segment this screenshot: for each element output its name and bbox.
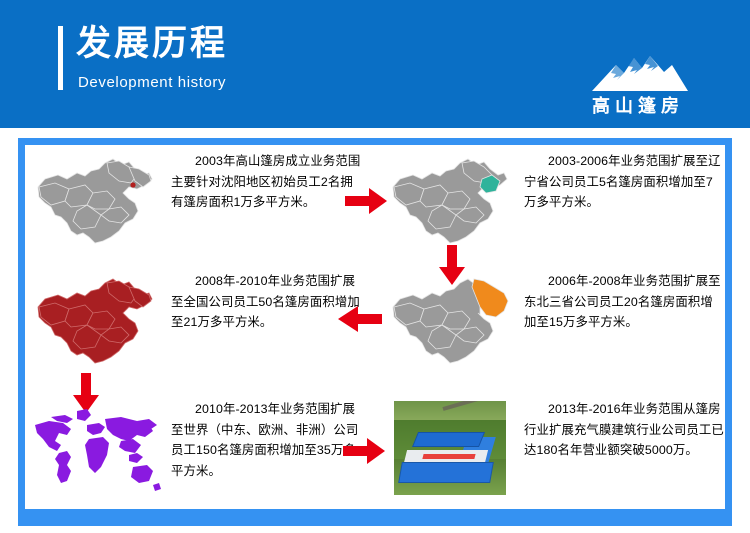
- company-logo: 高山篷房: [574, 52, 702, 118]
- page-subtitle: Development history: [78, 74, 226, 91]
- page-root: 发展历程 Development history 高山篷房: [0, 0, 750, 533]
- content-frame: 2003年高山篷房成立业务范围主要针对沈阳地区初始员工2名拥有篷房面积1万多平方…: [18, 138, 732, 516]
- page-title: 发展历程: [76, 23, 228, 65]
- factory-aerial-photo: [380, 397, 518, 503]
- timeline-step-6: 2013年-2016年业务范围从篷房行业扩展充气膜建筑行业公司员工已达180名年…: [380, 397, 725, 503]
- timeline-step-2: 2003-2006年业务范围扩展至辽宁省公司员工5名篷房面积增加至7万多平方米。: [380, 149, 725, 255]
- timeline-step-3-text: 2006年-2008年业务范围扩展至东北三省公司员工20名篷房面积增加至15万多…: [518, 269, 725, 333]
- timeline-step-5: 2010年-2013年业务范围扩展至世界（中东、欧洲、非洲）公司员工150名篷房…: [25, 397, 365, 503]
- shenyang-marker: [130, 182, 135, 187]
- timeline-step-6-text: 2013年-2016年业务范围从篷房行业扩展充气膜建筑行业公司员工已达180名年…: [518, 397, 725, 461]
- china-map-northeast-highlight-icon: [380, 269, 518, 375]
- timeline-step-5-text: 2010年-2013年业务范围扩展至世界（中东、欧洲、非洲）公司员工150名篷房…: [165, 397, 365, 481]
- page-header: 发展历程 Development history 高山篷房: [0, 0, 750, 128]
- china-map-all-red-icon: [25, 269, 165, 375]
- frame-bottom-strip: [18, 516, 732, 526]
- timeline-grid: 2003年高山篷房成立业务范围主要针对沈阳地区初始员工2名拥有篷房面积1万多平方…: [25, 145, 725, 509]
- factory-aerial-photo-image: [394, 401, 506, 495]
- timeline-step-4: 2008年-2010年业务范围扩展至全国公司员工50名篷房面积增加至21万多平方…: [25, 269, 365, 375]
- photo-red-stripe: [423, 454, 476, 459]
- logo-text: 高山篷房: [574, 92, 702, 118]
- world-map-purple-icon: [25, 397, 165, 503]
- timeline-step-2-text: 2003-2006年业务范围扩展至辽宁省公司员工5名篷房面积增加至7万多平方米。: [518, 149, 725, 213]
- title-accent-bar: [58, 26, 63, 90]
- mountain-icon: [590, 52, 690, 92]
- timeline-step-4-text: 2008年-2010年业务范围扩展至全国公司员工50名篷房面积增加至21万多平方…: [165, 269, 365, 333]
- arrow-right-icon: [343, 437, 385, 465]
- photo-blue-roof-lower: [399, 463, 492, 482]
- timeline-step-1: 2003年高山篷房成立业务范围主要针对沈阳地区初始员工2名拥有篷房面积1万多平方…: [25, 149, 365, 255]
- china-map-shenyang-dot-icon: [25, 149, 165, 255]
- timeline-step-3: 2006年-2008年业务范围扩展至东北三省公司员工20名篷房面积增加至15万多…: [380, 269, 725, 375]
- photo-blue-roof-upper: [414, 433, 484, 446]
- timeline-step-1-text: 2003年高山篷房成立业务范围主要针对沈阳地区初始员工2名拥有篷房面积1万多平方…: [165, 149, 365, 213]
- china-map-liaoning-highlight-icon: [380, 149, 518, 255]
